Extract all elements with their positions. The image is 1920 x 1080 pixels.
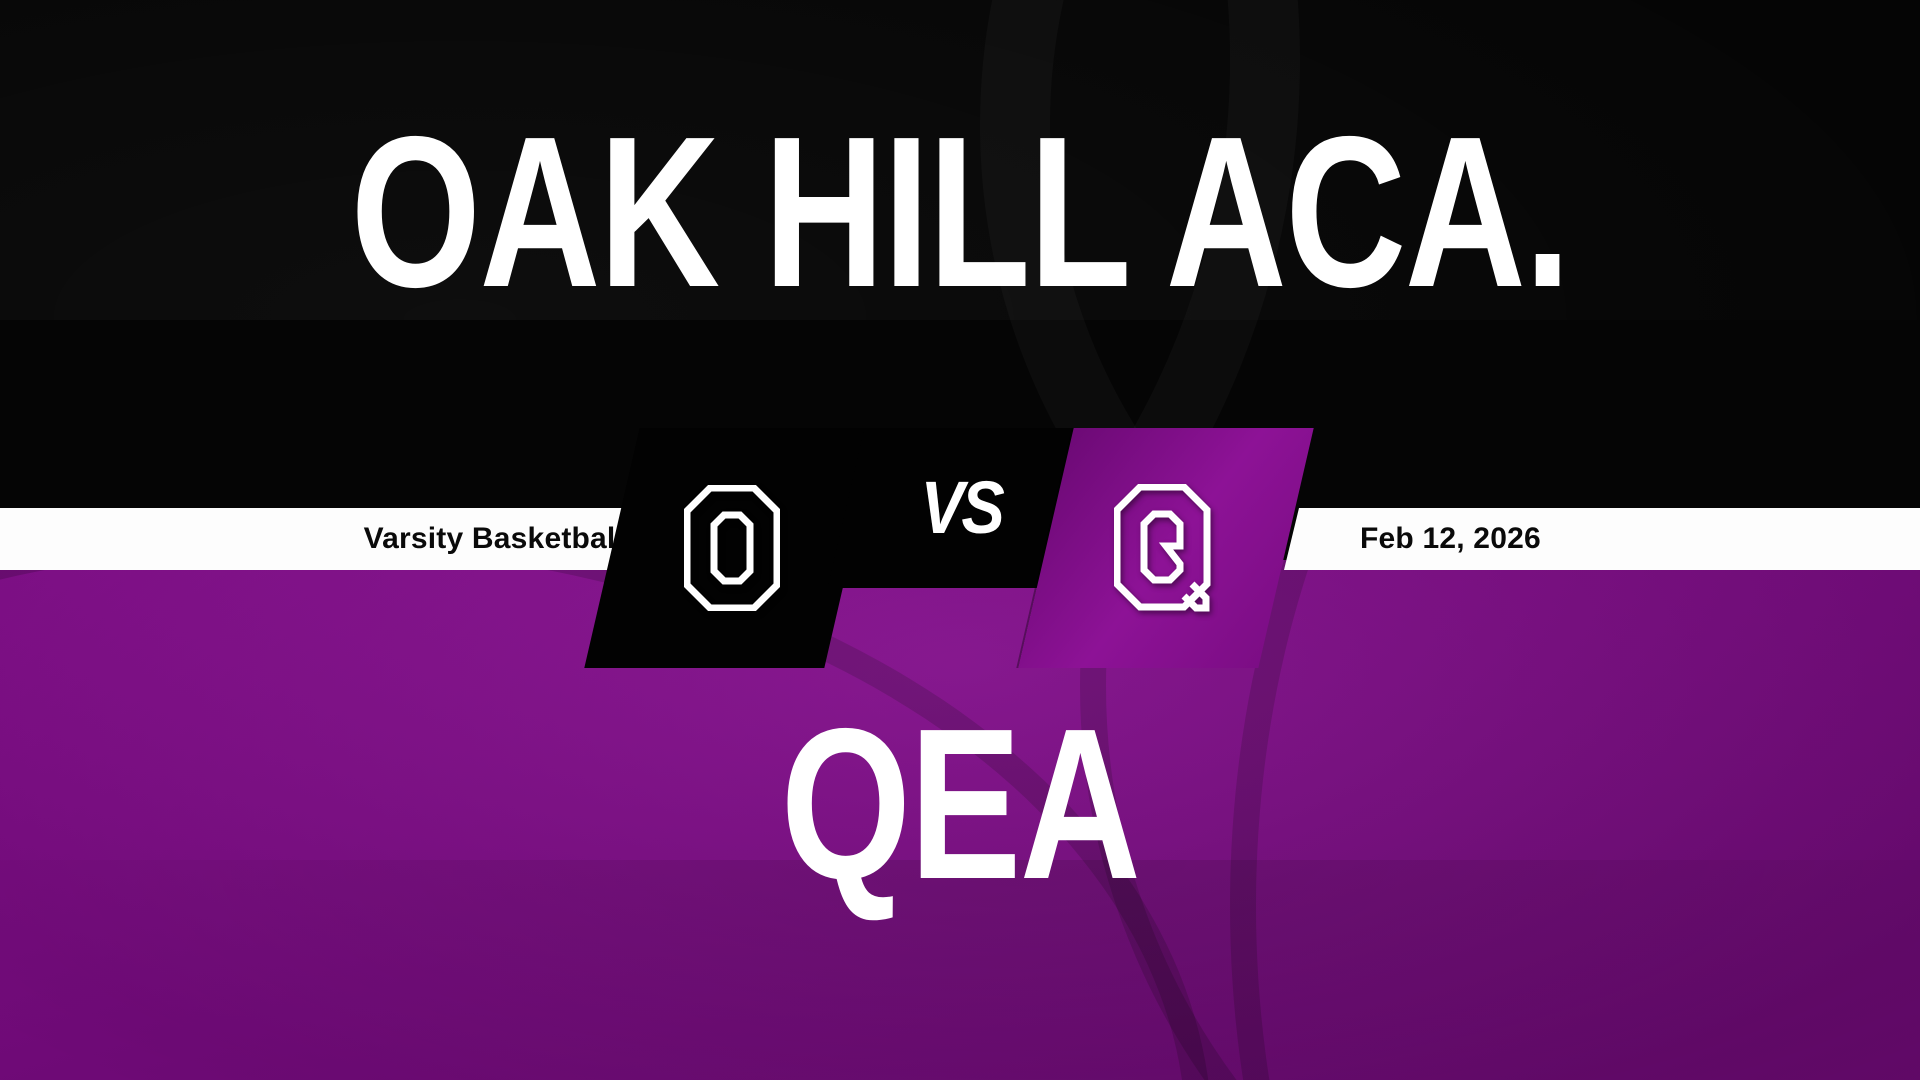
sport-banner-segment: Varsity Basketball xyxy=(0,508,700,570)
away-team-name: QEA xyxy=(211,712,1709,897)
away-crest-badge[interactable] xyxy=(1018,428,1313,668)
date-label: Feb 12, 2026 xyxy=(1360,522,1541,556)
matchup-graphic: OAK HILL ACA. QEA Varsity Basketball Feb… xyxy=(0,0,1920,1080)
qea-octagon-q-crest xyxy=(1046,428,1286,668)
date-banner-segment: Feb 12, 2026 xyxy=(1284,508,1920,570)
home-team-name: OAK HILL ACA. xyxy=(211,120,1709,305)
oak-hill-octagon-o-crest xyxy=(612,428,852,668)
versus-label: VS xyxy=(920,471,1002,545)
sport-label: Varsity Basketball xyxy=(364,522,624,556)
home-crest-badge[interactable] xyxy=(584,428,879,668)
